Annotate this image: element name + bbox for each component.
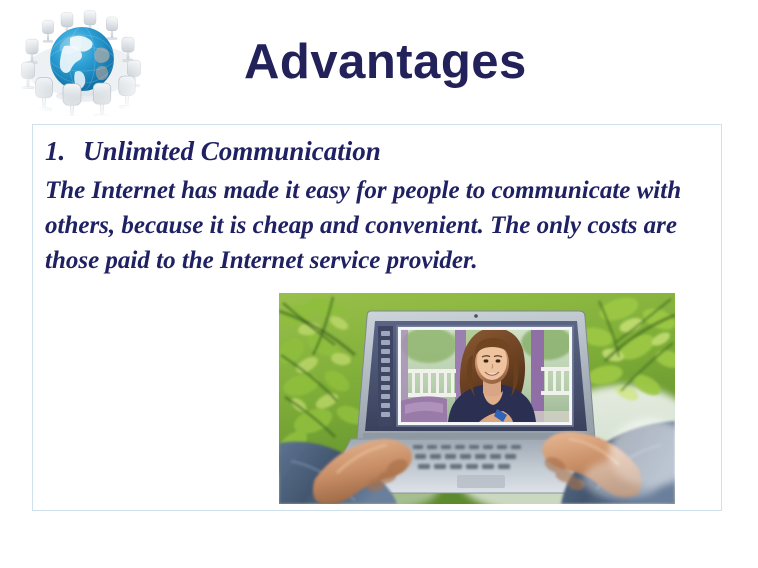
laptop-video-call-photo [279, 293, 675, 504]
slide: Advantages 1.Unlimited Communication The… [0, 0, 758, 568]
body-paragraph: The Internet has made it easy for people… [45, 173, 717, 278]
list-item-title: Unlimited Communication [83, 136, 381, 166]
page-title: Advantages [244, 38, 527, 87]
slide-header: Advantages [0, 0, 758, 122]
content-box: 1.Unlimited Communication The Internet h… [32, 124, 722, 511]
list-item-heading: 1.Unlimited Communication [45, 134, 715, 168]
body-text: 1.Unlimited Communication The Internet h… [45, 134, 715, 278]
globe-with-chairs-logo [12, 4, 152, 116]
list-item-number: 1. [45, 134, 83, 168]
